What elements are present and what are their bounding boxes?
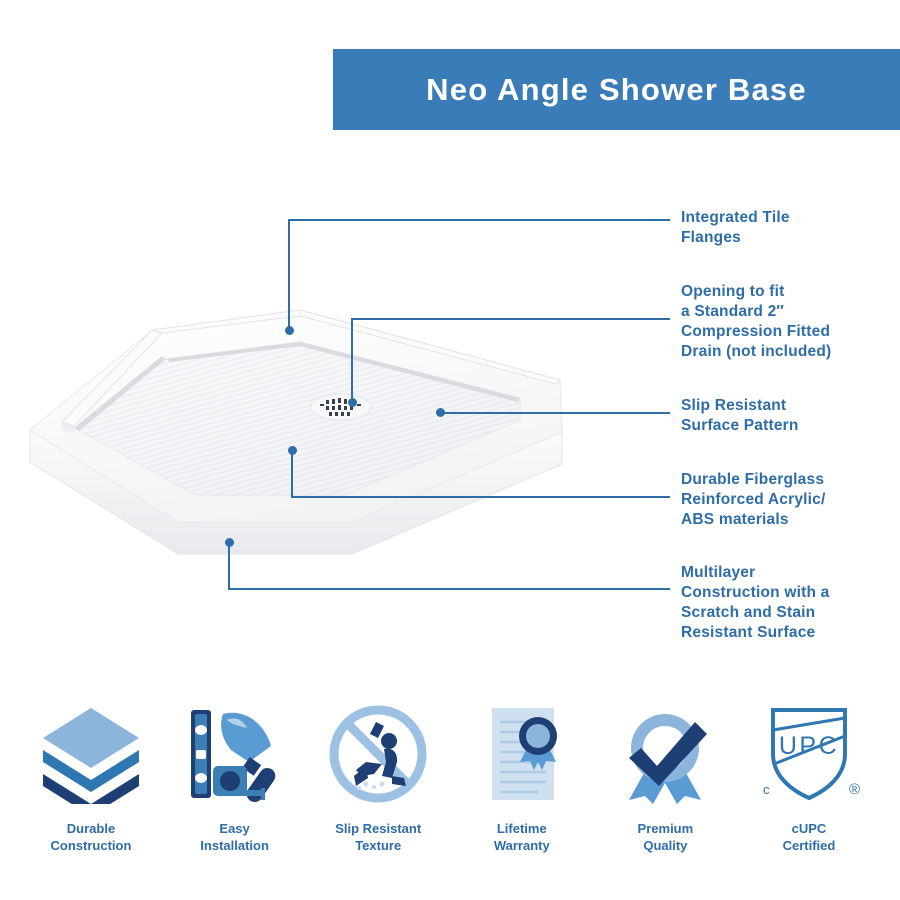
callout-line: Compression Fitted bbox=[681, 322, 831, 342]
upc-shield-icon: UPC c ® bbox=[757, 700, 861, 808]
leader-line-multilayer-horizontal bbox=[228, 588, 670, 590]
feature-label: Slip Resistant Texture bbox=[335, 820, 421, 854]
tools-icon bbox=[183, 700, 287, 808]
feature-slip-resistant-texture: Slip Resistant Texture bbox=[309, 700, 447, 854]
callout-line: Drain (not included) bbox=[681, 342, 831, 362]
feature-easy-installation: Easy Installation bbox=[166, 700, 304, 854]
upc-shield-text: UPC bbox=[779, 732, 839, 760]
no-slip-icon bbox=[326, 700, 430, 808]
leader-line-materials-horizontal bbox=[291, 496, 670, 498]
feature-row: Durable Construction bbox=[0, 700, 900, 875]
callout-line: Resistant Surface bbox=[681, 623, 829, 643]
callout-line: Slip Resistant bbox=[681, 396, 799, 416]
callout-line: Reinforced Acrylic/ bbox=[681, 490, 826, 510]
callout-line: ABS materials bbox=[681, 510, 826, 530]
callout-line: Integrated Tile bbox=[681, 208, 790, 228]
feature-premium-quality: Premium Quality bbox=[596, 700, 734, 854]
leader-line-flanges-horizontal bbox=[288, 219, 670, 221]
leader-line-drain-horizontal bbox=[351, 318, 670, 320]
callout-drain-opening: Opening to fit a Standard 2″ Compression… bbox=[681, 282, 831, 362]
callout-line: Flanges bbox=[681, 228, 790, 248]
feature-durable-construction: Durable Construction bbox=[22, 700, 160, 854]
callout-integrated-tile-flanges: Integrated Tile Flanges bbox=[681, 208, 790, 248]
feature-cupc-certified: UPC c ® cUPC Certified bbox=[740, 700, 878, 854]
callout-slip-resistant-surface: Slip Resistant Surface Pattern bbox=[681, 396, 799, 436]
upc-registered-mark: ® bbox=[849, 781, 860, 798]
callout-line: Scratch and Stain bbox=[681, 603, 829, 623]
callout-fiberglass-materials: Durable Fiberglass Reinforced Acrylic/ A… bbox=[681, 470, 826, 530]
certificate-icon bbox=[470, 700, 574, 808]
ribbon-check-icon bbox=[613, 700, 717, 808]
upc-c-mark: c bbox=[763, 782, 770, 797]
feature-label: Durable Construction bbox=[51, 820, 132, 854]
callout-line: a Standard 2″ bbox=[681, 302, 831, 322]
leader-line-materials-vertical bbox=[291, 450, 293, 498]
product-illustration bbox=[0, 280, 680, 610]
feature-lifetime-warranty: Lifetime Warranty bbox=[453, 700, 591, 854]
feature-label: Premium Quality bbox=[638, 820, 694, 854]
callout-multilayer-construction: Multilayer Construction with a Scratch a… bbox=[681, 563, 829, 643]
feature-label: Easy Installation bbox=[200, 820, 269, 854]
layers-icon bbox=[39, 700, 143, 808]
page-title: Neo Angle Shower Base bbox=[426, 72, 807, 108]
callout-line: Multilayer bbox=[681, 563, 829, 583]
leader-line-surface-horizontal bbox=[440, 412, 670, 414]
leader-line-multilayer-vertical bbox=[228, 542, 230, 590]
leader-line-flanges-vertical bbox=[288, 219, 290, 331]
infographic-canvas: Neo Angle Shower Base bbox=[0, 0, 900, 900]
feature-label: Lifetime Warranty bbox=[494, 820, 550, 854]
callout-line: Surface Pattern bbox=[681, 416, 799, 436]
callout-line: Durable Fiberglass bbox=[681, 470, 826, 490]
feature-label: cUPC Certified bbox=[783, 820, 836, 854]
title-banner: Neo Angle Shower Base bbox=[333, 49, 900, 130]
leader-line-drain-vertical bbox=[351, 318, 353, 402]
callout-line: Opening to fit bbox=[681, 282, 831, 302]
callout-line: Construction with a bbox=[681, 583, 829, 603]
